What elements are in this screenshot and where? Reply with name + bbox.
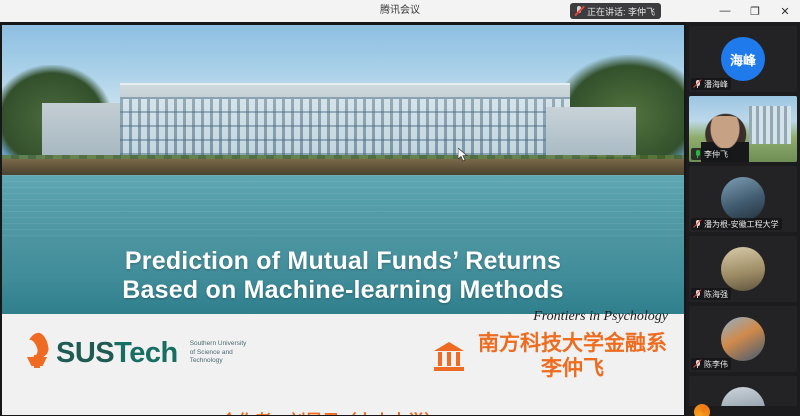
participant-tile[interactable]: 陈海强 [689, 236, 797, 302]
microphone-muted-icon [693, 290, 702, 299]
meeting-window: 腾讯会议 正在讲话: 李仲飞 — ❐ ✕ [0, 0, 800, 416]
shoreline [2, 159, 684, 175]
flame-torch-icon [24, 333, 50, 373]
campus-photo [2, 25, 684, 240]
participant-name: 李仲飞 [704, 149, 728, 160]
lake-water [2, 175, 684, 240]
minimize-button[interactable]: — [710, 0, 740, 22]
slide-title-line-2: Based on Machine-learning Methods [2, 276, 684, 305]
participant-name-badge: 陈李伟 [691, 358, 731, 370]
wordmark-sus: SUS [56, 337, 114, 369]
participant-tile[interactable]: 陈李伟 [689, 306, 797, 372]
campus-building-right [546, 107, 636, 157]
collaborator-line: 合作者：刘昱君（中山大学） [2, 407, 684, 415]
microphone-muted-icon [693, 220, 702, 229]
participant-name: 陈李伟 [704, 359, 728, 370]
presenter-info: 南方科技大学金融系 李仲飞 [478, 331, 667, 381]
title-bar: 腾讯会议 正在讲话: 李仲飞 — ❐ ✕ [0, 0, 800, 22]
slide-title: Prediction of Mutual Funds’ Returns Base… [2, 247, 684, 305]
microphone-muted-icon [693, 360, 702, 369]
journal-name: Frontiers in Psychology [2, 309, 676, 325]
participant-name: 潘为根-安徽工程大学 [704, 219, 779, 230]
department-name: 南方科技大学金融系 [478, 331, 667, 356]
microphone-on-icon [693, 150, 702, 159]
mouse-cursor [458, 148, 469, 162]
active-speaker-label: 正在讲话: 李仲飞 [587, 5, 655, 18]
sustech-subtitle-line-3: Technology [190, 357, 247, 366]
microphone-muted-icon [693, 80, 702, 89]
sustech-logo: SUSTech Southern University of Science a… [24, 333, 246, 373]
close-button[interactable]: ✕ [770, 0, 800, 22]
taskbar-peek [686, 406, 800, 416]
participant-tile[interactable]: 海峰潘海峰 [689, 26, 797, 92]
avatar [721, 177, 765, 221]
avatar [721, 247, 765, 291]
participant-tile[interactable]: 李仲飞 [689, 96, 797, 162]
active-speaker-indicator: 正在讲话: 李仲飞 [570, 3, 661, 19]
slide-title-line-1: Prediction of Mutual Funds’ Returns [2, 247, 684, 276]
participant-name-badge: 陈海强 [691, 288, 731, 300]
participant-name-badge: 潘海峰 [691, 78, 731, 90]
wordmark-tech: Tech [114, 337, 178, 369]
institution-building-icon [434, 340, 464, 372]
presenter-block: 南方科技大学金融系 李仲飞 [434, 331, 667, 381]
participant-name: 陈海强 [704, 289, 728, 300]
browser-taskbar-icon[interactable] [694, 404, 710, 416]
presentation-slide: Prediction of Mutual Funds’ Returns Base… [2, 25, 684, 415]
maximize-button[interactable]: ❐ [740, 0, 770, 22]
presenter-name: 李仲飞 [478, 356, 667, 381]
avatar: 海峰 [721, 37, 765, 81]
participant-name-badge: 李仲飞 [691, 148, 731, 160]
participant-rail[interactable]: 海峰潘海峰李仲飞潘为根-安徽工程大学陈海强陈李伟刘海滨 [686, 22, 800, 416]
participant-name-badge: 潘为根-安徽工程大学 [691, 218, 782, 230]
sustech-subtitle-line-2: of Science and [190, 349, 247, 358]
sustech-wordmark: SUSTech [56, 337, 178, 370]
window-controls: — ❐ ✕ [710, 0, 800, 22]
avatar [721, 317, 765, 361]
app-title: 腾讯会议 [0, 0, 800, 22]
campus-building-main [120, 83, 570, 165]
participant-name: 潘海峰 [704, 79, 728, 90]
microphone-muted-icon [574, 6, 584, 16]
sustech-subtitle-line-1: Southern University [190, 340, 247, 349]
participant-tile[interactable]: 潘为根-安徽工程大学 [689, 166, 797, 232]
shared-screen-stage[interactable]: Prediction of Mutual Funds’ Returns Base… [0, 22, 686, 416]
sustech-subtitle: Southern University of Science and Techn… [190, 340, 247, 366]
